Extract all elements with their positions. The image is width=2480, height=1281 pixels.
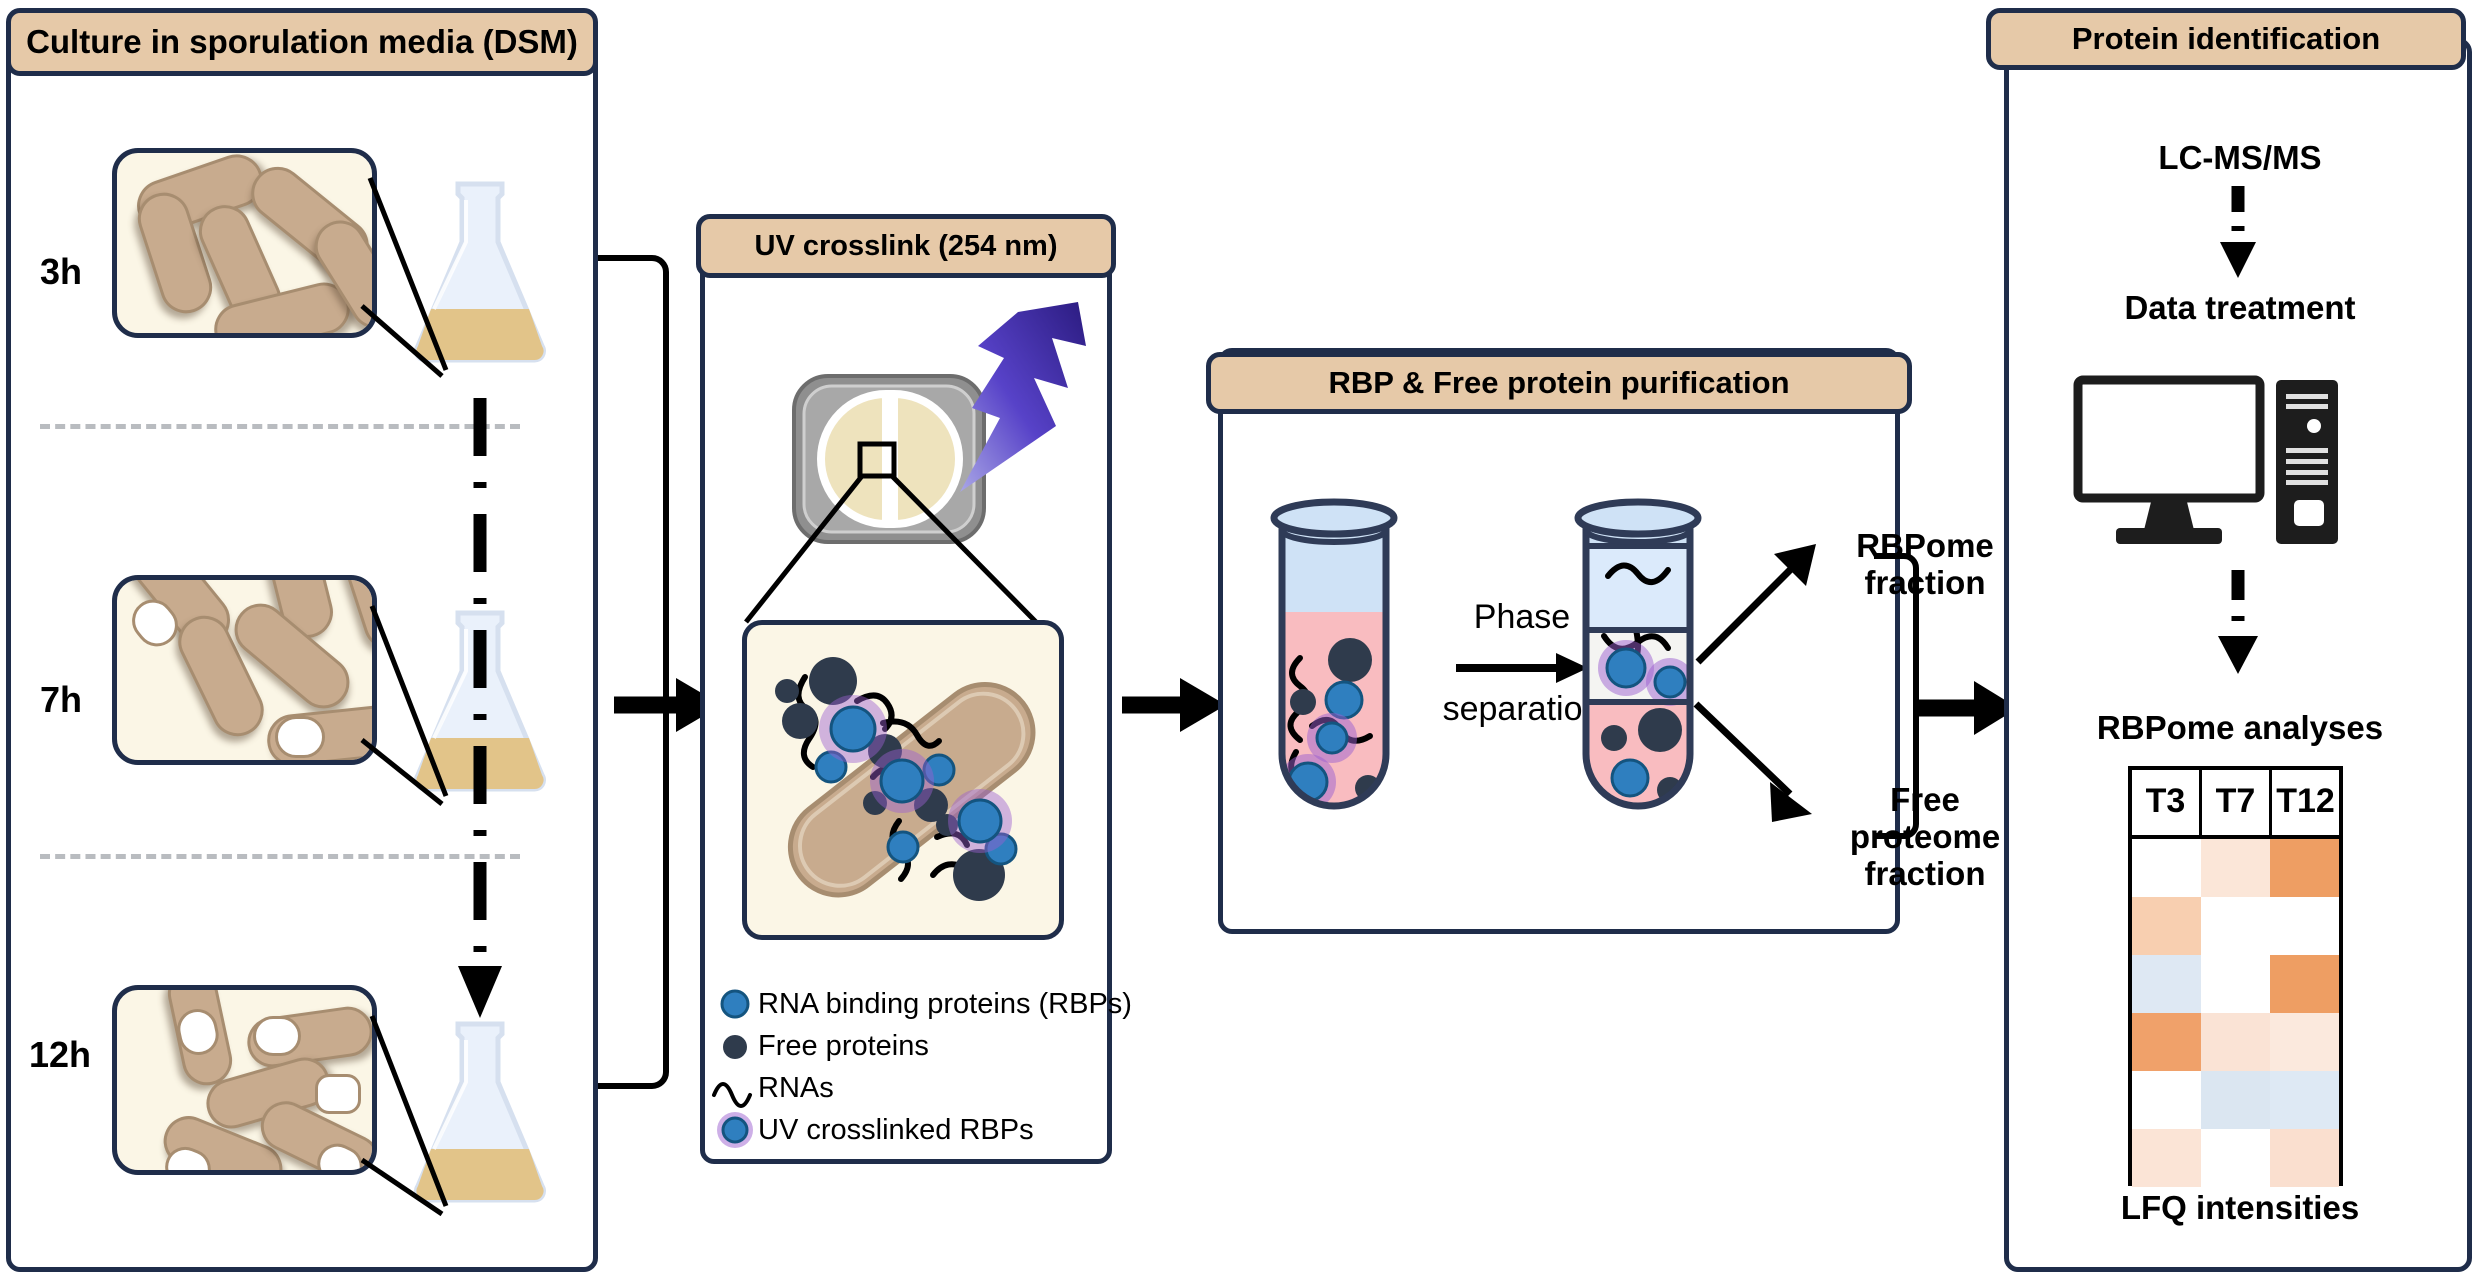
- timepoint-label-3h: 3h: [18, 252, 104, 292]
- legend-label: RNAs: [758, 1072, 834, 1105]
- heatmap-cell: [2132, 1071, 2201, 1129]
- legend-item: UV crosslinked RBPs: [712, 1111, 1102, 1149]
- step-data-treatment-label: Data treatment: [2090, 290, 2390, 327]
- heatmap-col-t12: T12: [2272, 770, 2339, 835]
- heatmap-cell: [2270, 1071, 2339, 1129]
- heatmap-row: [2132, 1129, 2339, 1187]
- legend-item: RNA binding proteins (RBPs): [712, 985, 1102, 1023]
- panel-culture-title: Culture in sporulation media (DSM): [26, 23, 578, 61]
- magnifier-leader-lines: [740, 440, 1080, 640]
- cell-inset-7h: [112, 575, 377, 765]
- timepoint-label-7h: 7h: [18, 680, 104, 720]
- heatmap-col-t3: T3: [2132, 770, 2202, 835]
- tube-after-separation: [1570, 490, 1710, 820]
- step-rbpome-analyses-label: RBPome analyses: [2080, 710, 2400, 747]
- heatmap-body: [2132, 839, 2339, 1187]
- uv-legend: RNA binding proteins (RBPs) Free protein…: [712, 985, 1102, 1153]
- heatmap-cell: [2132, 1129, 2201, 1187]
- panel-culture-header: Culture in sporulation media (DSM): [6, 8, 598, 76]
- heatmap-cell: [2201, 1129, 2270, 1187]
- rna-squiggle-icon: [712, 1069, 758, 1107]
- heatmap-row: [2132, 1071, 2339, 1129]
- lfq-intensities-caption: LFQ intensities: [2090, 1190, 2390, 1227]
- legend-label: UV crosslinked RBPs: [758, 1114, 1034, 1147]
- cell-inset-3h: [112, 148, 377, 338]
- timepoint-label-12h: 12h: [10, 1035, 110, 1075]
- heatmap-cell: [2270, 839, 2339, 897]
- rbp-blob-icon: [712, 985, 758, 1023]
- heatmap-row: [2132, 955, 2339, 1013]
- panel-purification-header: RBP & Free protein purification: [1206, 352, 1912, 414]
- heatmap-cell: [2132, 1013, 2201, 1071]
- heatmap-row: [2132, 839, 2339, 897]
- heatmap-row: [2132, 1013, 2339, 1071]
- heatmap-cell: [2132, 897, 2201, 955]
- tube-before-separation: [1266, 490, 1406, 820]
- endospore: [253, 1016, 301, 1056]
- cell-inset-12h: [112, 985, 377, 1175]
- legend-item: RNAs: [712, 1069, 1102, 1107]
- heatmap-cell: [2201, 839, 2270, 897]
- leader-line-12h: [360, 1010, 470, 1240]
- heatmap-cell: [2201, 955, 2270, 1013]
- heatmap-cell: [2270, 1013, 2339, 1071]
- heatmap-cell: [2201, 1013, 2270, 1071]
- heatmap-cell: [2132, 955, 2201, 1013]
- heatmap-cell: [2201, 897, 2270, 955]
- heatmap-cell: [2132, 839, 2201, 897]
- computer-icon: [2074, 376, 2364, 556]
- endospore: [315, 1074, 361, 1114]
- timepoint-divider: [40, 854, 520, 859]
- panel-identification-title: Protein identification: [2072, 21, 2380, 57]
- heatmap-row: [2132, 897, 2339, 955]
- lfq-heatmap: T3 T7 T12: [2128, 766, 2343, 1186]
- legend-label: Free proteins: [758, 1030, 929, 1063]
- heatmap-col-t7: T7: [2202, 770, 2272, 835]
- panel-uv-title: UV crosslink (254 nm): [755, 230, 1058, 263]
- heatmap-cell: [2270, 955, 2339, 1013]
- endospore: [275, 716, 325, 758]
- legend-label: RNA binding proteins (RBPs): [758, 988, 1132, 1021]
- free-protein-blob-icon: [712, 1027, 758, 1065]
- panel-purification-title: RBP & Free protein purification: [1328, 365, 1789, 401]
- panel-uv-header: UV crosslink (254 nm): [696, 214, 1116, 278]
- heatmap-header-row: T3 T7 T12: [2132, 770, 2339, 839]
- arrow-lcms-to-data-treatment: [2208, 186, 2268, 282]
- heatmap-cell: [2201, 1071, 2270, 1129]
- magnified-cell-inset: [742, 620, 1064, 940]
- panel-identification-header: Protein identification: [1986, 8, 2466, 70]
- arrow-data-treatment-to-rbpome: [2208, 570, 2268, 680]
- step-lcmsms-label: LC-MS/MS: [2100, 140, 2380, 177]
- heatmap-cell: [2270, 1129, 2339, 1187]
- heatmap-cell: [2270, 897, 2339, 955]
- legend-item: Free proteins: [712, 1027, 1102, 1065]
- timepoint-divider: [40, 424, 520, 429]
- uv-crosslinked-rbp-icon: [712, 1111, 758, 1149]
- leader-line-3h: [360, 170, 470, 400]
- arrow-uv-to-purification: [1122, 672, 1232, 738]
- timepoint-progression-arrow: [450, 398, 510, 1038]
